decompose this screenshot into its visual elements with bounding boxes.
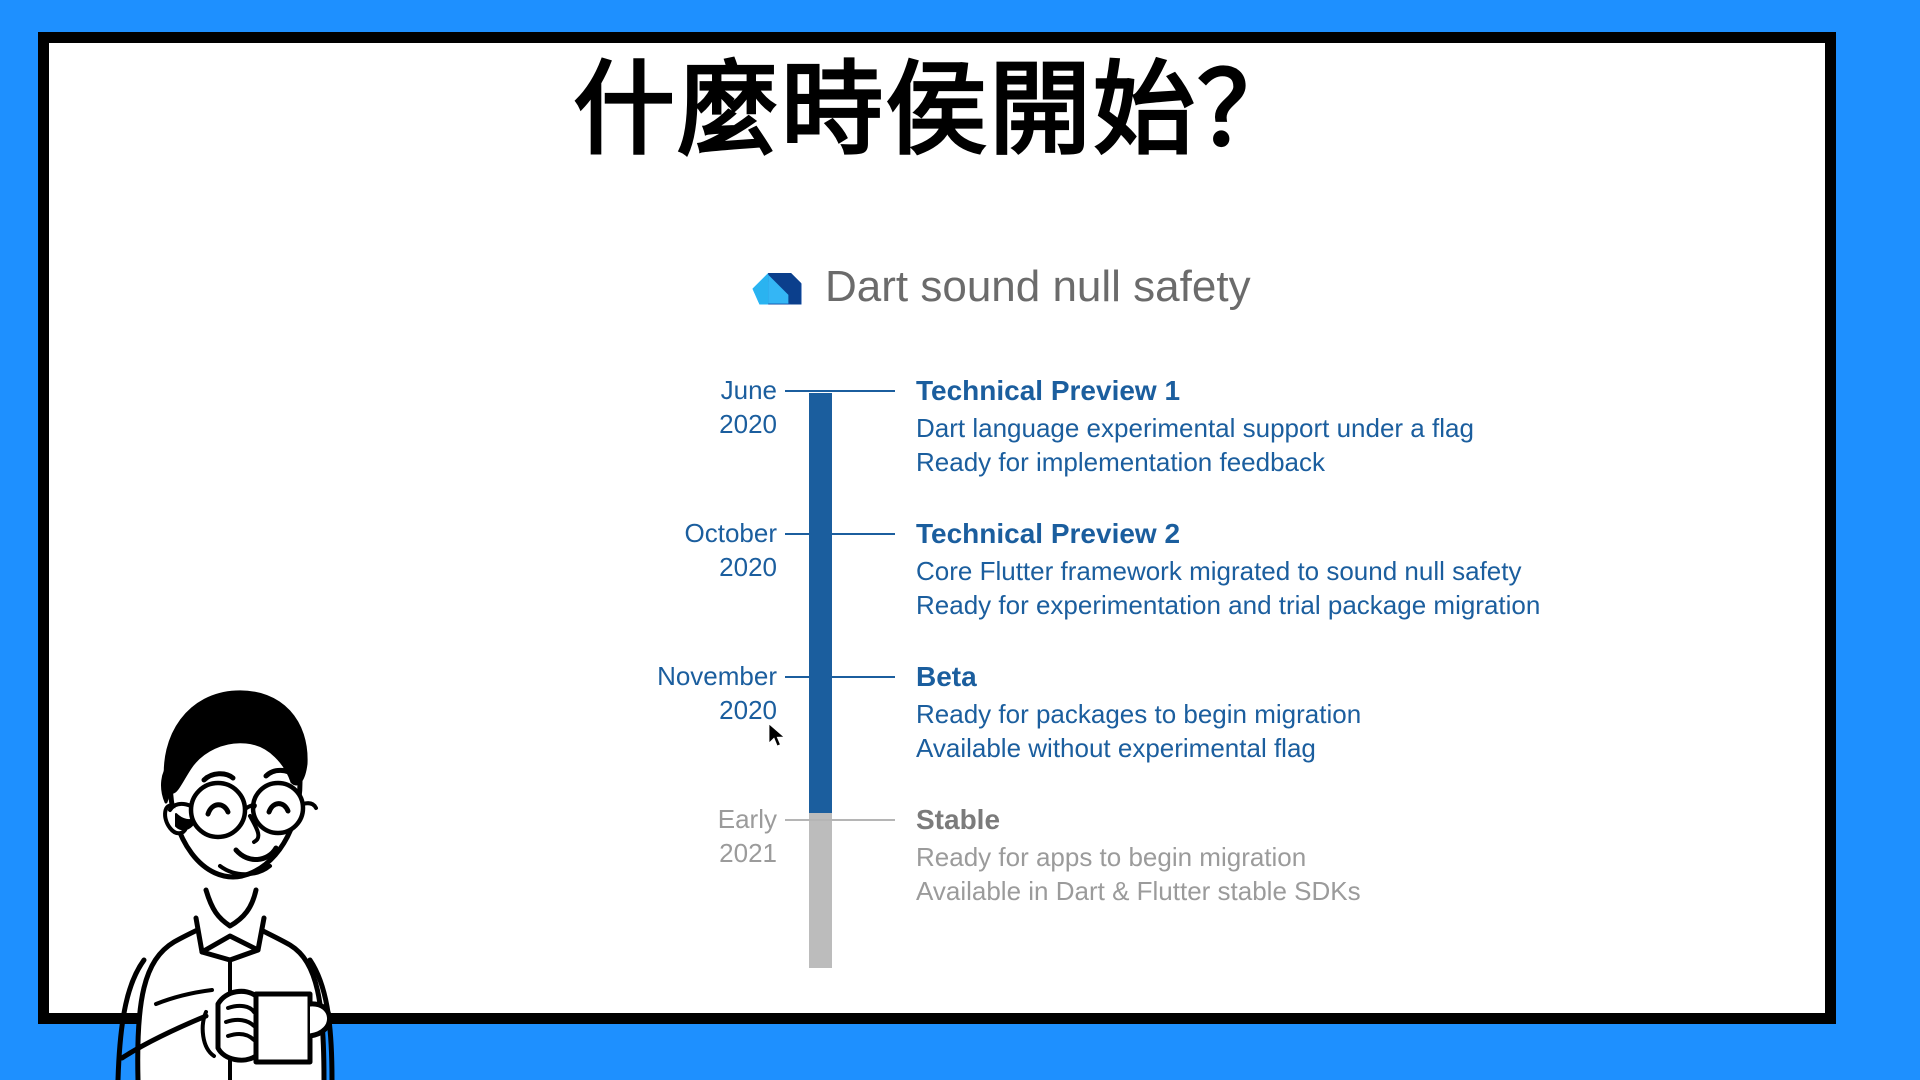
timeline-body: Stable Ready for apps to begin migration… [916, 802, 1756, 908]
timeline-line: Ready for experimentation and trial pack… [916, 588, 1756, 622]
timeline-line: Dart language experimental support under… [916, 411, 1756, 445]
timeline-heading: Technical Preview 2 [916, 516, 1756, 552]
timeline-heading: Stable [916, 802, 1756, 838]
timeline-month: Early [609, 802, 777, 836]
timeline-tick [785, 533, 895, 535]
timeline-date: Early 2021 [609, 802, 777, 870]
slide-surface: 什麼時侯開始？ Dart sound null safety J [49, 43, 1825, 1013]
dart-logo-icon [749, 259, 805, 315]
timeline-tick [785, 390, 895, 392]
timeline-year: 2020 [609, 693, 777, 727]
timeline-body: Technical Preview 1 Dart language experi… [916, 373, 1756, 479]
timeline-line: Available without experimental flag [916, 731, 1756, 765]
timeline-row[interactable]: November 2020 Beta Ready for packages to… [609, 659, 1759, 774]
timeline-body: Technical Preview 2 Core Flutter framewo… [916, 516, 1756, 622]
timeline-heading: Beta [916, 659, 1756, 695]
timeline-date: June 2020 [609, 373, 777, 441]
timeline-year: 2020 [609, 550, 777, 584]
timeline-row[interactable]: June 2020 Technical Preview 1 Dart langu… [609, 373, 1759, 488]
mouse-pointer-icon [768, 723, 786, 749]
timeline-tick [785, 676, 895, 678]
timeline-body: Beta Ready for packages to begin migrati… [916, 659, 1756, 765]
timeline-line: Ready for apps to begin migration [916, 840, 1756, 874]
page-title: 什麼時侯開始？ [49, 51, 1825, 171]
timeline-month: October [609, 516, 777, 550]
timeline: June 2020 Technical Preview 1 Dart langu… [609, 373, 1759, 973]
timeline-row[interactable]: October 2020 Technical Preview 2 Core Fl… [609, 516, 1759, 631]
timeline-date: October 2020 [609, 516, 777, 584]
timeline-line: Core Flutter framework migrated to sound… [916, 554, 1756, 588]
timeline-heading: Technical Preview 1 [916, 373, 1756, 409]
timeline-year: 2020 [609, 407, 777, 441]
timeline-year: 2021 [609, 836, 777, 870]
timeline-month: June [609, 373, 777, 407]
timeline-month: November [609, 659, 777, 693]
dart-heading-label: Dart sound null safety [825, 261, 1251, 313]
timeline-line: Available in Dart & Flutter stable SDKs [916, 874, 1756, 908]
timeline-tick [785, 819, 895, 821]
timeline-date: November 2020 [609, 659, 777, 727]
timeline-line: Ready for implementation feedback [916, 445, 1756, 479]
timeline-line: Ready for packages to begin migration [916, 697, 1756, 731]
dart-heading: Dart sound null safety [749, 259, 1251, 315]
timeline-row[interactable]: Early 2021 Stable Ready for apps to begi… [609, 802, 1759, 917]
slide-frame: 什麼時侯開始？ Dart sound null safety J [38, 32, 1836, 1024]
